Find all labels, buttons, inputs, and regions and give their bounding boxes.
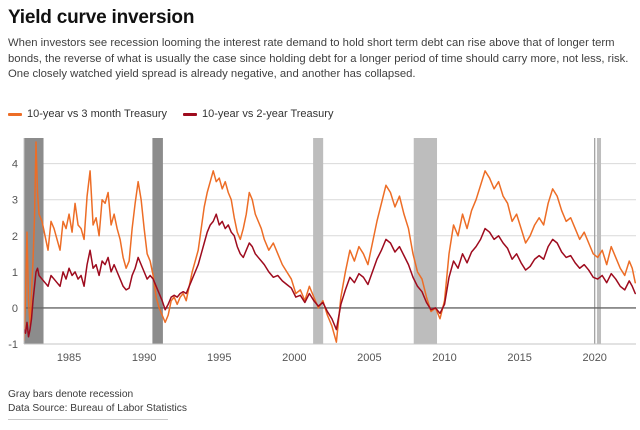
x-axis-tick-label: 2015	[507, 352, 531, 364]
bottom-divider	[8, 419, 168, 420]
y-axis-tick-label: 3	[12, 195, 18, 207]
y-axis-tick-label: 2	[12, 231, 18, 243]
legend-label-2year: 10-year vs 2-year Treasury	[202, 108, 333, 120]
yield-curve-line-chart: -10123419851990199520002005201020152020	[0, 136, 640, 371]
x-axis-tick-label: 2010	[432, 352, 456, 364]
legend-item-2year[interactable]: 10-year vs 2-year Treasury	[183, 108, 333, 120]
legend-item-3month[interactable]: 10-year vs 3 month Treasury	[8, 108, 167, 120]
legend-label-3month: 10-year vs 3 month Treasury	[27, 108, 167, 120]
footnote-source: Data Source: Bureau of Labor Statistics	[8, 402, 187, 416]
x-axis-tick-label: 1995	[207, 352, 231, 364]
x-axis-tick-label: 1985	[57, 352, 81, 364]
y-axis-tick-label: 0	[12, 303, 18, 315]
series-line-2year	[24, 214, 635, 337]
series-group	[24, 142, 635, 342]
recession-bands	[24, 138, 601, 344]
y-axis-tick-label: 4	[12, 159, 18, 171]
legend-swatch-3month	[8, 113, 22, 116]
recession-band	[597, 138, 601, 344]
chart-footnotes: Gray bars denote recession Data Source: …	[8, 388, 187, 415]
chart-legend: 10-year vs 3 month Treasury 10-year vs 2…	[8, 108, 333, 120]
recession-band	[313, 138, 323, 344]
page-title: Yield curve inversion	[8, 6, 194, 30]
x-axis-tick-label: 2005	[357, 352, 381, 364]
x-axis-tick-label: 2000	[282, 352, 306, 364]
chart-plot-area: -10123419851990199520002005201020152020	[0, 136, 640, 371]
y-axis-tick-label: 1	[12, 267, 18, 279]
y-axis-tick-label: -1	[8, 339, 18, 351]
x-axis-tick-label: 2020	[582, 352, 606, 364]
series-line-3month	[24, 142, 635, 342]
footnote-recession: Gray bars denote recession	[8, 388, 187, 402]
chart-page: Yield curve inversion When investors see…	[0, 0, 640, 430]
recession-band	[414, 138, 437, 344]
chart-subtitle: When investors see recession looming the…	[8, 36, 634, 83]
legend-swatch-2year	[183, 113, 197, 116]
x-axis-tick-label: 1990	[132, 352, 156, 364]
